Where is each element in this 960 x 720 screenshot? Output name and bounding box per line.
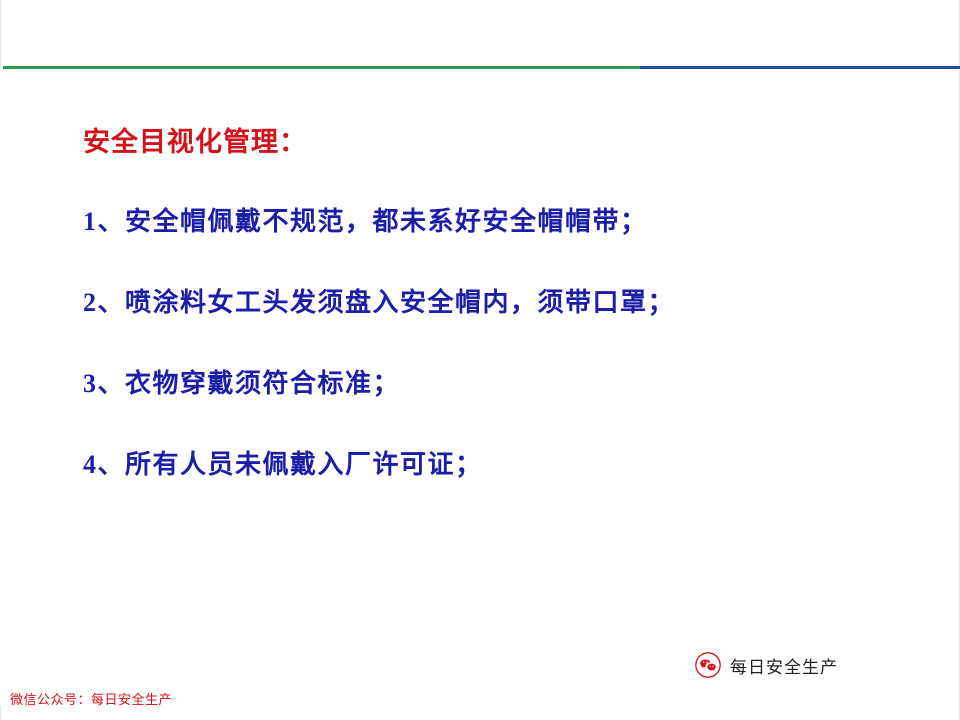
top-rule-blue <box>640 66 960 69</box>
slide: 安全目视化管理： 1、安全帽佩戴不规范，都未系好安全帽帽带； 2、喷涂料女工头发… <box>0 0 960 720</box>
footer-watermark: 微信公众号：每日安全生产 <box>10 689 172 708</box>
list-item: 2、喷涂料女工头发须盘入安全帽内，须带口罩； <box>83 282 960 319</box>
slide-content: 安全目视化管理： 1、安全帽佩戴不规范，都未系好安全帽帽带； 2、喷涂料女工头发… <box>0 120 960 525</box>
wechat-badge: 每日安全生产 <box>695 652 838 678</box>
list-item: 1、安全帽佩戴不规范，都未系好安全帽帽带； <box>83 201 960 238</box>
slide-heading: 安全目视化管理： <box>83 120 960 159</box>
list-item: 3、衣物穿戴须符合标准； <box>83 363 960 400</box>
wechat-icon <box>695 652 721 678</box>
list-item: 4、所有人员未佩戴入厂许可证； <box>83 444 960 481</box>
wechat-account-name: 每日安全生产 <box>730 653 838 678</box>
